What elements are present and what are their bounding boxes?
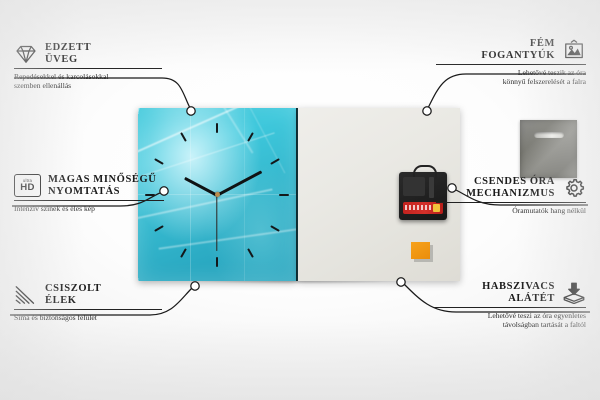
- feature-title: MAGAS MINŐSÉGŰ NYOMTATÁS: [48, 174, 156, 197]
- feature-description: Intenzív színek és éles kép: [14, 204, 166, 213]
- divider: [436, 64, 586, 65]
- feature-title: HABSZIVACS ALÁTÉT: [482, 281, 555, 304]
- clock-tick: [180, 248, 187, 258]
- clock-tick: [216, 257, 218, 267]
- battery-label: [405, 205, 431, 210]
- feature-title: FÉM FOGANTYÚK: [481, 38, 555, 61]
- infographic-canvas: EDZETT ÜVEG Repedésekkel és karcolásokka…: [0, 0, 600, 400]
- foam-spacer-pad: [411, 242, 430, 259]
- feature-metal-handles: FÉM FOGANTYÚK Lehetővé teszik az óra kön…: [436, 38, 586, 87]
- feature-description: Repedésekkel és karcolásokkal szemben el…: [14, 72, 164, 91]
- clock-second-hand: [216, 195, 217, 251]
- feature-description: Lehetővé teszik az óra könnyű felszerelé…: [436, 68, 586, 87]
- hanger-slot: [534, 132, 564, 138]
- divider: [14, 309, 162, 310]
- feature-description: Sima és biztonságos felület: [14, 313, 164, 322]
- divider: [434, 307, 586, 308]
- picture-hanger-icon: [562, 39, 586, 61]
- clock-center-pivot: [215, 192, 220, 197]
- clock-tick: [180, 132, 187, 142]
- feature-title: EDZETT ÜVEG: [45, 42, 91, 65]
- feature-hd-print: ultra HD MAGAS MINŐSÉGŰ NYOMTATÁS Intenz…: [14, 174, 166, 213]
- feature-title: CSENDES ÓRA MECHANIZMUS: [466, 176, 555, 199]
- feature-title: CSISZOLT ÉLEK: [45, 283, 101, 306]
- clock-tick: [154, 158, 164, 165]
- feature-description: Óramutatók hang nélkül: [436, 206, 586, 215]
- product-image: [138, 108, 460, 281]
- feature-foam-pad: HABSZIVACS ALÁTÉT Lehetővé teszi az óra …: [434, 281, 586, 330]
- clock-tick: [154, 225, 164, 232]
- divider: [14, 68, 162, 69]
- metal-hanger-bracket: [520, 120, 577, 178]
- polished-edges-icon: [14, 284, 38, 306]
- divider: [14, 200, 164, 201]
- feature-polished-edges: CSISZOLT ÉLEK Sima és biztonságos felüle…: [14, 283, 164, 322]
- feature-silent-mechanism: CSENDES ÓRA MECHANIZMUS Óramutatók hang …: [436, 176, 586, 215]
- divider: [436, 202, 586, 203]
- ultra-hd-badge-icon: ultra HD: [14, 174, 41, 197]
- badge-bottom-label: HD: [20, 183, 34, 193]
- feature-tempered-glass: EDZETT ÜVEG Repedésekkel és karcolásokka…: [14, 42, 164, 91]
- gear-icon: [562, 177, 586, 199]
- feature-description: Lehetővé teszi az óra egyenletes távolsá…: [434, 311, 586, 330]
- clock-tick: [247, 248, 254, 258]
- press-down-pad-icon: [562, 282, 586, 304]
- diamond-gem-icon: [14, 43, 38, 65]
- mechanism-bar: [429, 177, 434, 198]
- clock-tick: [216, 123, 218, 133]
- mechanism-body: [403, 177, 425, 196]
- clock-tick: [279, 194, 289, 196]
